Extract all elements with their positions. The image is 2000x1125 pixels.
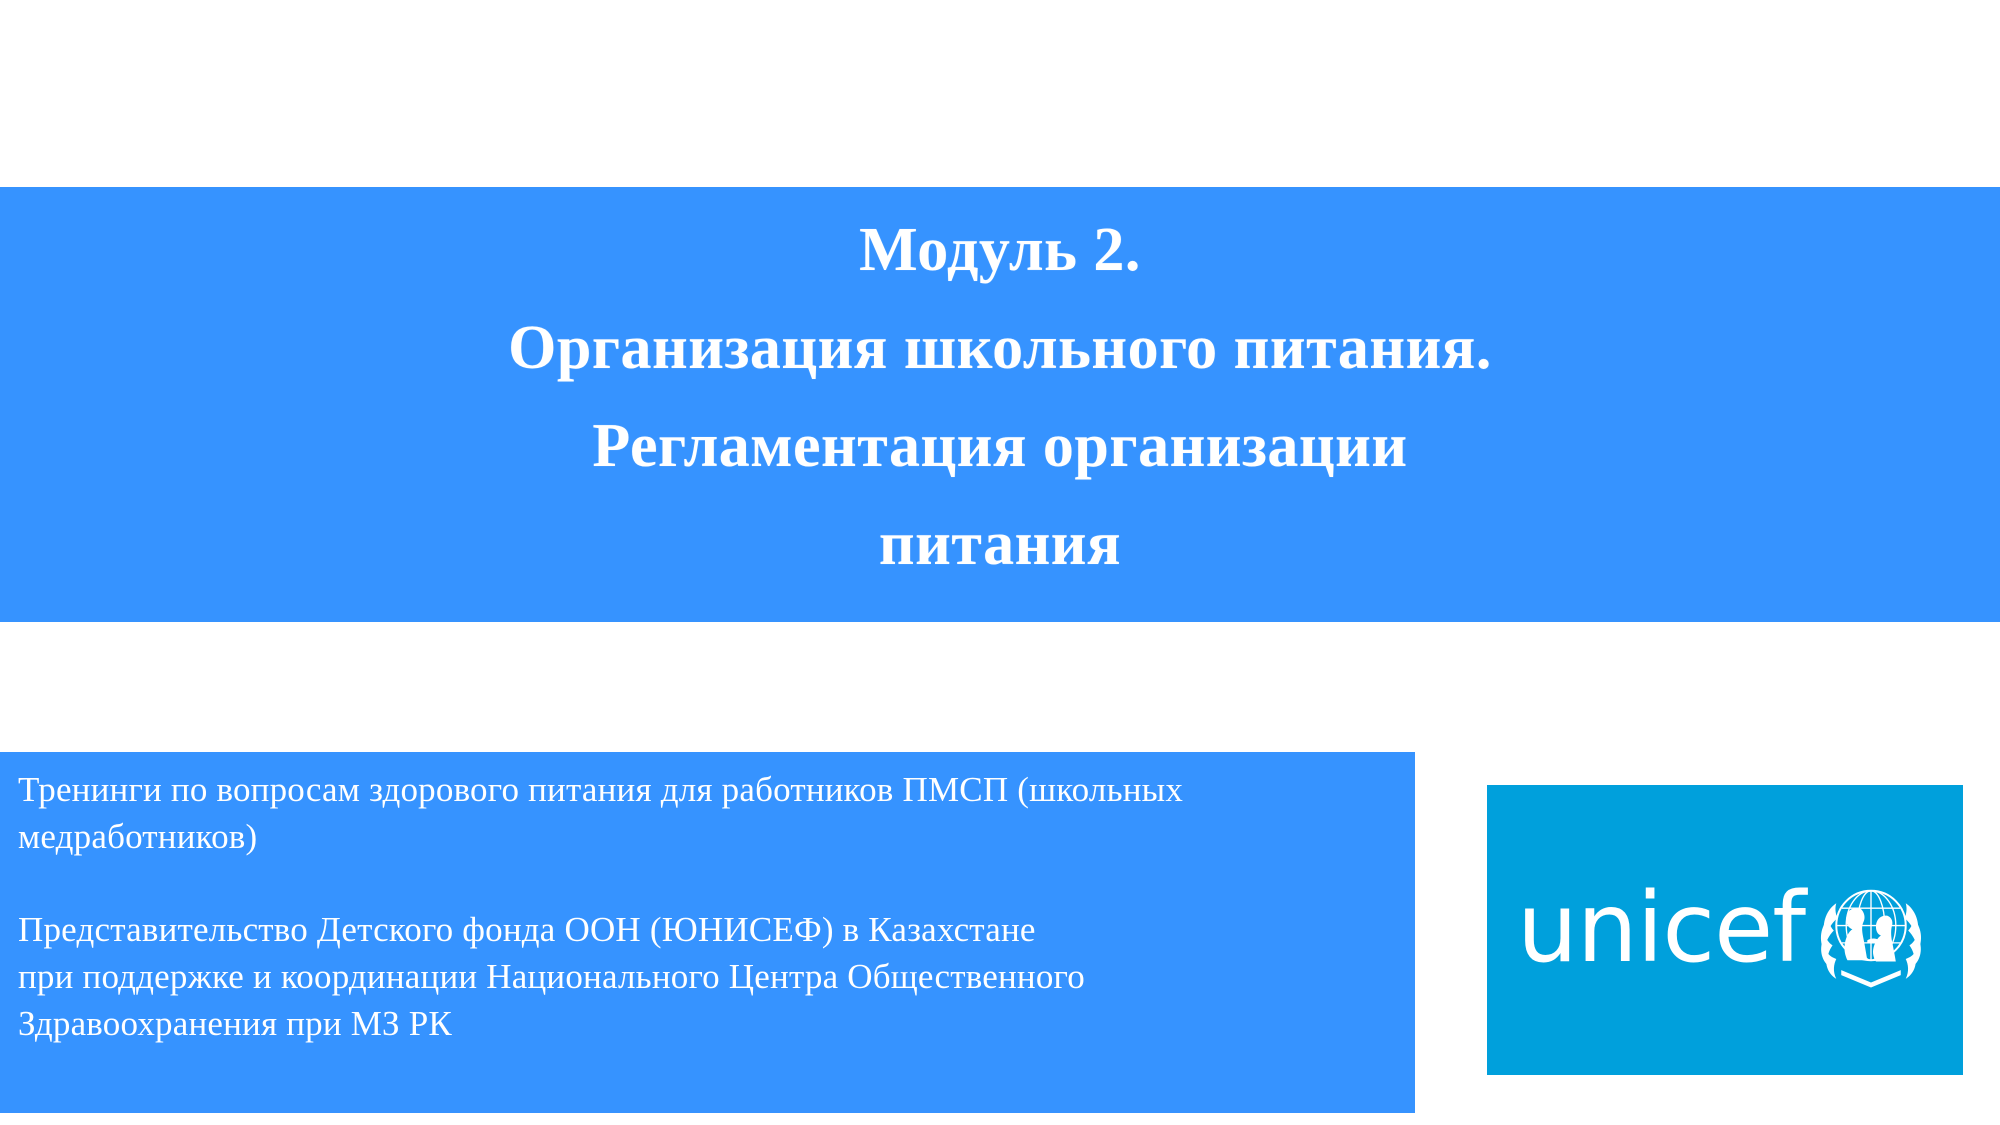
unicef-wordmark: unicef	[1517, 880, 1805, 976]
body-text-box: Тренинги по вопросам здорового питания д…	[0, 752, 1415, 1113]
title-line-1: Модуль 2.	[859, 201, 1141, 299]
unicef-globe-emblem-icon	[1809, 866, 1933, 990]
unicef-logo-box: unicef	[1487, 785, 1963, 1075]
body-paragraph-2: Представительство Детского фонда ООН (ЮН…	[18, 906, 1397, 1047]
title-line-2: Организация школьного питания.	[508, 299, 1492, 397]
unicef-logo-inner: unicef	[1517, 866, 1933, 990]
body-paragraph-1: Тренинги по вопросам здорового питания д…	[18, 766, 1397, 860]
title-line-3: Регламентация организации	[592, 397, 1407, 495]
slide-root: Модуль 2. Организация школьного питания.…	[0, 0, 2000, 1125]
body-paragraph-spacer	[18, 860, 1397, 906]
title-line-4: питания	[879, 495, 1121, 593]
title-banner: Модуль 2. Организация школьного питания.…	[0, 187, 2000, 622]
